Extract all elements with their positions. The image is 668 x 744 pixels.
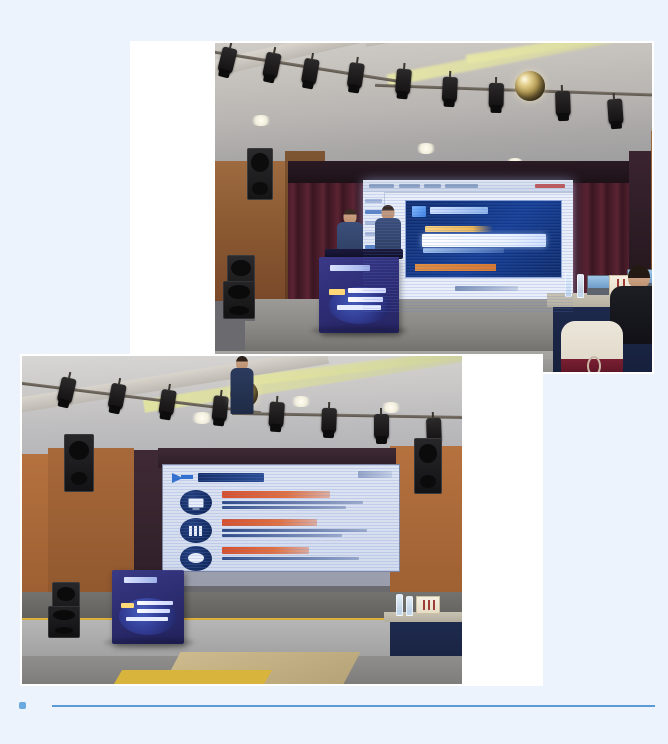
slide-brand-mark: [358, 471, 392, 478]
photo-1-scene: [215, 43, 652, 372]
conference-photo-2[interactable]: [22, 356, 462, 684]
podium: [112, 570, 184, 644]
water-bottle: [577, 274, 584, 298]
bullet-heading: [222, 491, 330, 498]
browser-chrome: [363, 180, 573, 193]
slide-accent-bar: [415, 264, 496, 271]
presentation-slide-title: [405, 200, 562, 279]
stage-light: [395, 68, 412, 95]
slide-main-title: [422, 234, 546, 247]
floor-monitor: [223, 281, 255, 319]
stage-light: [321, 408, 337, 435]
downlight: [380, 402, 402, 413]
downlight: [415, 143, 437, 154]
stage-light: [489, 83, 504, 109]
slide-kicker-text: [425, 226, 493, 232]
speaker-box: [247, 148, 273, 200]
bullet-text: [222, 534, 342, 537]
podium-shadow: [104, 638, 194, 647]
stage-light: [442, 77, 458, 104]
pager-track[interactable]: [52, 705, 655, 707]
conference-photo-1[interactable]: [215, 43, 652, 372]
speech-bubble-icon: [180, 546, 212, 571]
stage-light: [555, 91, 571, 118]
water-bottle: [396, 594, 403, 616]
bullet-heading: [222, 519, 318, 526]
downlight: [290, 396, 312, 407]
slide-credit-line: [455, 286, 518, 291]
stage-step-edge: [114, 670, 272, 684]
stage-light: [211, 395, 229, 422]
bullet-text: [222, 529, 367, 532]
laptop-icon: [180, 490, 212, 515]
water-bottle: [406, 596, 413, 616]
stage-light: [268, 401, 285, 428]
podium-shadow: [311, 326, 407, 335]
bullet-text: [222, 501, 363, 504]
chair-sash: [561, 359, 623, 372]
stage-light: [374, 414, 389, 440]
speaker-box: [64, 434, 94, 492]
mirror-ball: [515, 71, 545, 101]
pager-dot[interactable]: [19, 702, 26, 709]
photo-2-scene: [22, 356, 462, 684]
floor-monitor: [48, 606, 80, 638]
slide-logo: [412, 205, 459, 216]
pager[interactable]: [0, 698, 668, 718]
podium: [319, 257, 399, 333]
bullet-heading: [222, 547, 309, 554]
water-bottle: [565, 271, 572, 297]
slide-header: [172, 470, 271, 483]
bullet-text: [222, 506, 347, 509]
led-screen: [162, 464, 400, 572]
name-card: [416, 596, 440, 614]
downlight: [250, 115, 272, 126]
bar-chart-icon: [180, 518, 212, 543]
speaker-box: [414, 438, 442, 494]
stage-light: [607, 98, 624, 125]
downlight: [190, 412, 214, 424]
bullet-text: [222, 557, 359, 560]
slide-subtitle: [423, 248, 504, 253]
